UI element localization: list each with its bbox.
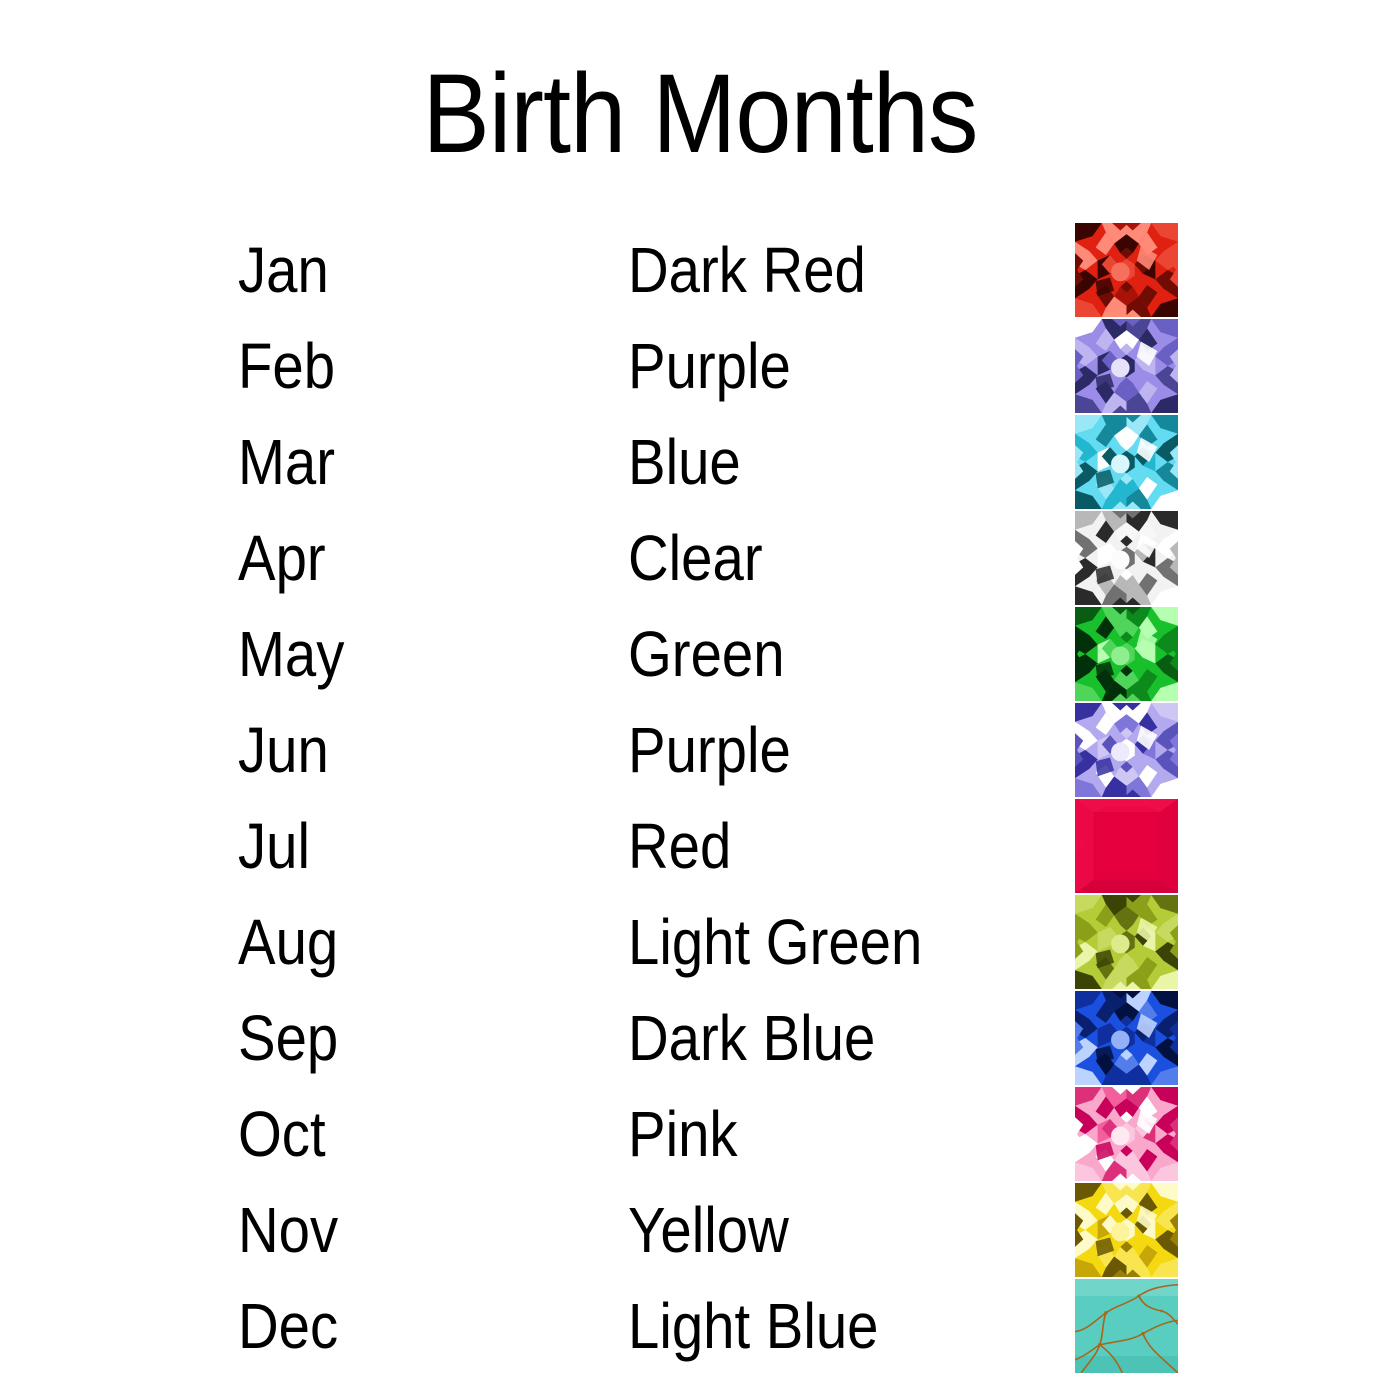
color-label: Dark Red — [628, 222, 866, 318]
birth-month-list: JanDark RedFebPurpleMarBlueAprClearMayGr… — [0, 222, 1400, 1374]
table-row: JunPurple — [0, 702, 1400, 798]
color-label: Blue — [628, 414, 741, 510]
turquoise-gemstone — [1075, 1279, 1178, 1373]
month-label: Apr — [238, 510, 326, 606]
gemstone-swatch-cell — [1075, 223, 1178, 317]
month-label: Jan — [238, 222, 329, 318]
peridot-gemstone — [1075, 895, 1178, 989]
color-label: Green — [628, 606, 785, 702]
aquamarine-gemstone — [1075, 415, 1178, 509]
color-label: Light Blue — [628, 1278, 878, 1374]
color-label: Clear — [628, 510, 763, 606]
page-title: Birth Months — [70, 58, 1330, 170]
table-row: NovYellow — [0, 1182, 1400, 1278]
gemstone-swatch-cell — [1075, 703, 1178, 797]
gemstone-swatch-cell — [1075, 607, 1178, 701]
color-label: Yellow — [628, 1182, 789, 1278]
month-label: Jul — [238, 798, 310, 894]
color-label: Light Green — [628, 894, 922, 990]
table-row: AugLight Green — [0, 894, 1400, 990]
color-label: Dark Blue — [628, 990, 875, 1086]
gemstone-swatch-cell — [1075, 511, 1178, 605]
gemstone-swatch-cell — [1075, 1183, 1178, 1277]
garnet-gemstone — [1075, 223, 1178, 317]
table-row: FebPurple — [0, 318, 1400, 414]
table-row: JulRed — [0, 798, 1400, 894]
gemstone-swatch-cell — [1075, 991, 1178, 1085]
color-label: Purple — [628, 702, 791, 798]
color-label: Pink — [628, 1086, 738, 1182]
emerald-gemstone — [1075, 607, 1178, 701]
month-label: Mar — [238, 414, 335, 510]
color-label: Red — [628, 798, 731, 894]
table-row: SepDark Blue — [0, 990, 1400, 1086]
month-label: Nov — [238, 1182, 338, 1278]
gemstone-swatch-cell — [1075, 1087, 1178, 1181]
month-label: Feb — [238, 318, 335, 414]
table-row: MayGreen — [0, 606, 1400, 702]
sapphire-gemstone — [1075, 991, 1178, 1085]
table-row: JanDark Red — [0, 222, 1400, 318]
month-label: Sep — [238, 990, 338, 1086]
month-label: Dec — [238, 1278, 338, 1374]
birth-months-poster: Birth Months JanDark RedFebPurpleMarBlue… — [0, 0, 1400, 1400]
month-label: Jun — [238, 702, 329, 798]
gemstone-swatch-cell — [1075, 799, 1178, 893]
tourmaline-gemstone — [1075, 1087, 1178, 1181]
month-label: May — [238, 606, 344, 702]
alexandrite-gemstone — [1075, 703, 1178, 797]
gemstone-swatch-cell — [1075, 1279, 1178, 1373]
month-label: Aug — [238, 894, 338, 990]
gemstone-swatch-cell — [1075, 319, 1178, 413]
month-label: Oct — [238, 1086, 326, 1182]
color-label: Purple — [628, 318, 791, 414]
table-row: AprClear — [0, 510, 1400, 606]
diamond-gemstone — [1075, 511, 1178, 605]
ruby-gemstone — [1075, 799, 1178, 893]
gemstone-swatch-cell — [1075, 415, 1178, 509]
amethyst-gemstone — [1075, 319, 1178, 413]
table-row: DecLight Blue — [0, 1278, 1400, 1374]
topaz-gemstone — [1075, 1183, 1178, 1277]
gemstone-swatch-cell — [1075, 895, 1178, 989]
table-row: OctPink — [0, 1086, 1400, 1182]
table-row: MarBlue — [0, 414, 1400, 510]
